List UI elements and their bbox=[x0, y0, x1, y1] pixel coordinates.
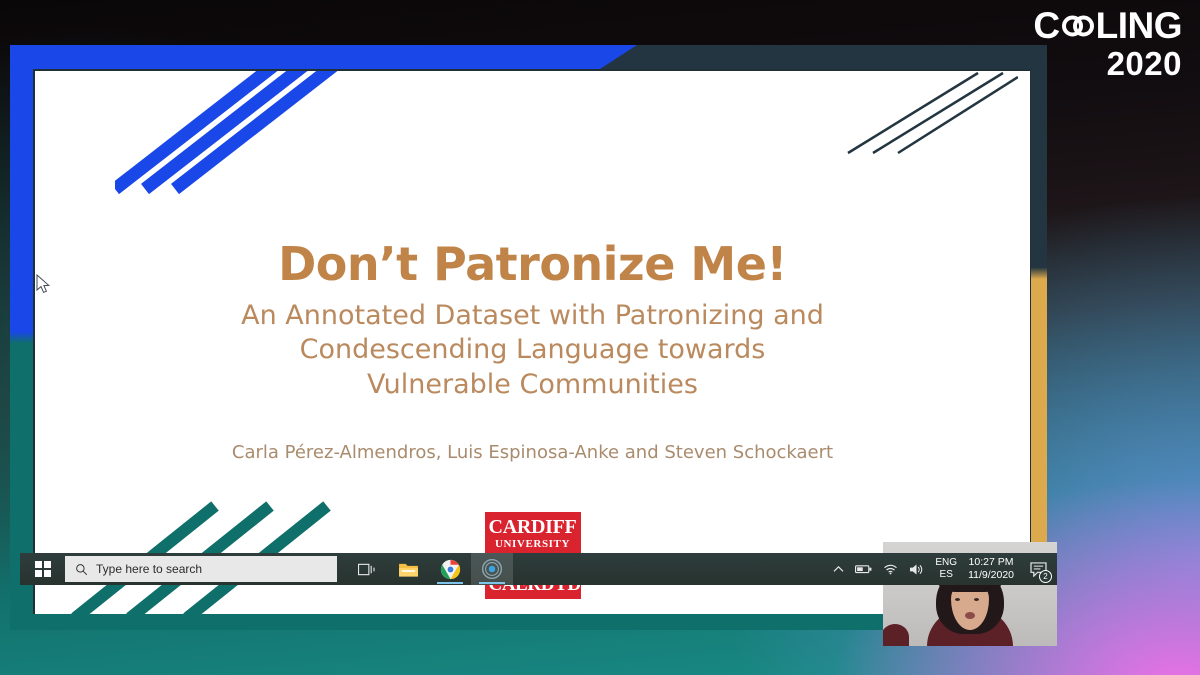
webcam-eye-right bbox=[974, 598, 979, 601]
conference-stream-background: C LING 2020 bbox=[0, 0, 1200, 675]
webcam-mouth bbox=[965, 612, 975, 619]
slide-authors: Carla Pérez-Almendros, Luis Espinosa-Ank… bbox=[35, 442, 1030, 463]
start-button[interactable] bbox=[20, 553, 65, 585]
webcam-arm bbox=[883, 624, 909, 646]
language-secondary: ES bbox=[935, 569, 957, 582]
language-indicator[interactable]: ENG ES bbox=[935, 557, 957, 582]
clock-time: 10:27 PM bbox=[968, 556, 1014, 569]
shared-slide-window[interactable]: Don’t Patronize Me! An Annotated Dataset… bbox=[10, 45, 1047, 630]
folder-icon bbox=[398, 561, 419, 578]
task-view-button[interactable] bbox=[345, 553, 387, 585]
coling-logo-c: C bbox=[1033, 8, 1059, 44]
coling-logo-ling: LING bbox=[1096, 8, 1182, 44]
slide-title: Don’t Patronize Me! bbox=[35, 239, 1030, 290]
blue-diagonal-stripes-decoration bbox=[115, 71, 365, 199]
blue-circle-app-icon bbox=[481, 558, 503, 580]
slide-frame-top-blue bbox=[10, 45, 637, 69]
slide-subtitle-line-2: Condescending Language towards bbox=[35, 333, 1030, 368]
clock-date: 11/9/2020 bbox=[968, 569, 1014, 582]
taskbar-app-buttons bbox=[345, 553, 513, 585]
navy-diagonal-lines-decoration bbox=[828, 71, 1018, 161]
cardiff-logo-line-1: CARDIFF bbox=[489, 517, 577, 537]
windows-taskbar: Type here to search bbox=[20, 553, 1057, 585]
taskbar-search-placeholder: Type here to search bbox=[96, 562, 202, 576]
slide-subtitle-line-3: Vulnerable Communities bbox=[35, 368, 1030, 403]
wifi-icon[interactable] bbox=[883, 563, 898, 575]
search-icon bbox=[75, 563, 88, 576]
coling-logo-year: 2020 bbox=[1033, 48, 1182, 80]
language-primary: ENG bbox=[935, 557, 957, 570]
slide-subtitle: An Annotated Dataset with Patronizing an… bbox=[35, 299, 1030, 403]
battery-icon[interactable] bbox=[855, 563, 872, 575]
mouse-pointer bbox=[36, 274, 52, 296]
slide-canvas: Don’t Patronize Me! An Annotated Dataset… bbox=[35, 71, 1030, 614]
media-app-button[interactable] bbox=[471, 553, 513, 585]
task-view-icon bbox=[358, 562, 375, 577]
taskbar-search-box[interactable]: Type here to search bbox=[65, 556, 337, 582]
coling-logo: C LING 2020 bbox=[1033, 8, 1182, 79]
slide-text-block: Don’t Patronize Me! An Annotated Dataset… bbox=[35, 239, 1030, 463]
interlocked-circles-icon bbox=[1061, 11, 1095, 41]
file-explorer-button[interactable] bbox=[387, 553, 429, 585]
coling-logo-line1: C LING bbox=[1033, 8, 1182, 44]
notification-badge: 2 bbox=[1039, 570, 1052, 583]
slide-subtitle-line-1: An Annotated Dataset with Patronizing an… bbox=[35, 299, 1030, 334]
clock[interactable]: 10:27 PM 11/9/2020 bbox=[968, 556, 1014, 582]
slide-frame-left bbox=[10, 45, 33, 630]
cardiff-logo-english-box: CARDIFF UNIVERSITY bbox=[485, 512, 581, 556]
speaker-icon[interactable] bbox=[909, 563, 924, 576]
notification-center-button[interactable]: 2 bbox=[1025, 556, 1051, 582]
windows-logo-icon bbox=[35, 561, 51, 577]
cardiff-logo-line-2: UNIVERSITY bbox=[489, 539, 577, 550]
chevron-up-icon[interactable] bbox=[833, 565, 844, 574]
chrome-icon bbox=[440, 559, 461, 580]
system-tray: ENG ES 10:27 PM 11/9/2020 2 bbox=[833, 553, 1057, 585]
chrome-button[interactable] bbox=[429, 553, 471, 585]
webcam-eye-left bbox=[955, 598, 960, 601]
